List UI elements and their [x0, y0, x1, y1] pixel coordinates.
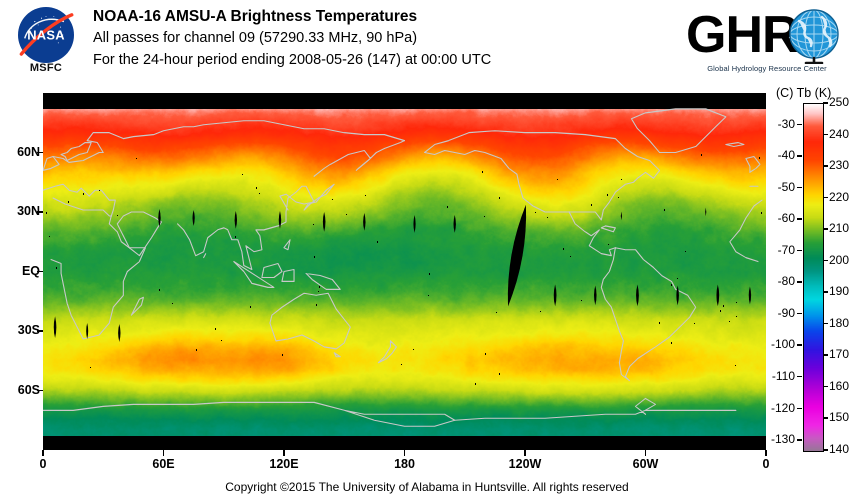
colorbar-celsius-label: -120: [761, 401, 795, 415]
xtick-mark: [163, 450, 165, 456]
colorbar-kelvin-tick: [823, 354, 828, 356]
colorbar-celsius-label: -130: [761, 432, 795, 446]
colorbar-celsius-tick: [797, 250, 802, 252]
ytick-mark: [37, 330, 43, 332]
colorbar-kelvin-label: 210: [829, 221, 854, 235]
xtick-label-0: 0: [13, 457, 73, 471]
xtick-label-120e: 120E: [254, 457, 314, 471]
xtick-mark: [404, 450, 406, 456]
colorbar-kelvin-label: 230: [829, 158, 854, 172]
colorbar-celsius-label: -60: [761, 211, 795, 225]
ytick-label-60n: 60N: [0, 145, 40, 159]
xtick-mark: [283, 450, 285, 456]
colorbar-kelvin-tick: [823, 228, 828, 230]
title-block: NOAA-16 AMSU-A Brightness Temperatures A…: [93, 6, 683, 71]
colorbar-celsius-tick: [797, 218, 802, 220]
xtick-label-0: 0: [736, 457, 796, 471]
ytick-label-30s: 30S: [0, 323, 40, 337]
colorbar-celsius-tick: [797, 439, 802, 441]
colorbar-kelvin-label: 200: [829, 253, 854, 267]
copyright-notice: Copyright ©2015 The University of Alabam…: [0, 480, 854, 494]
colorbar-celsius-label: -70: [761, 243, 795, 257]
xtick-mark: [645, 450, 647, 456]
xtick-label-180: 180: [375, 457, 435, 471]
map-canvas[interactable]: [43, 93, 766, 450]
xtick-mark: [765, 450, 767, 456]
colorbar-kelvin-label: 170: [829, 347, 854, 361]
colorbar-kelvin-tick: [823, 386, 828, 388]
colorbar-kelvin-label: 190: [829, 284, 854, 298]
svg-text:GHR: GHR: [686, 6, 799, 64]
ghrc-logo: GHR Global Hydrology Resource Center: [686, 4, 848, 78]
colorbar-kelvin-label: 150: [829, 410, 854, 424]
page-title: NOAA-16 AMSU-A Brightness Temperatures: [93, 6, 683, 27]
colorbar-kelvin-label: 180: [829, 316, 854, 330]
xtick-label-60w: 60W: [616, 457, 676, 471]
colorbar-kelvin-tick: [823, 260, 828, 262]
title-subline-channel: All passes for channel 09 (57290.33 MHz,…: [93, 27, 683, 49]
colorbar-kelvin-label: 140: [829, 442, 854, 456]
colorbar-kelvin-tick: [823, 291, 828, 293]
ytick-label-30n: 30N: [0, 204, 40, 218]
ytick-mark: [37, 211, 43, 213]
colorbar-celsius-tick: [797, 313, 802, 315]
colorbar-celsius-label: -40: [761, 148, 795, 162]
xtick-mark: [524, 450, 526, 456]
nasa-logo: NASA MSFC: [10, 5, 82, 77]
xtick-label-120w: 120W: [495, 457, 555, 471]
xtick-label-60e: 60E: [134, 457, 194, 471]
colorbar-celsius-label: -80: [761, 274, 795, 288]
xtick-mark: [42, 450, 44, 456]
colorbar[interactable]: [803, 103, 824, 452]
ghrc-subtitle: Global Hydrology Resource Center: [686, 64, 848, 73]
plot-page: NASA MSFC NOAA-16 AMSU-A Brightness Temp…: [0, 0, 854, 502]
colorbar-celsius-label: -110: [761, 369, 795, 383]
svg-text:NASA: NASA: [27, 27, 65, 42]
nasa-center-label: MSFC: [10, 62, 82, 74]
ytick-label-eq: EQ: [0, 264, 40, 278]
colorbar-celsius-tick: [797, 187, 802, 189]
ytick-label-60s: 60S: [0, 383, 40, 397]
colorbar-celsius-tick: [797, 344, 802, 346]
colorbar-kelvin-label: 220: [829, 190, 854, 204]
ytick-mark: [37, 271, 43, 273]
colorbar-kelvin-tick: [823, 323, 828, 325]
colorbar-celsius-tick: [797, 155, 802, 157]
colorbar-celsius-tick: [797, 376, 802, 378]
colorbar-kelvin-tick: [823, 165, 828, 167]
title-subline-period: For the 24-hour period ending 2008-05-26…: [93, 49, 683, 71]
colorbar-celsius-tick: [797, 124, 802, 126]
colorbar-canvas[interactable]: [804, 104, 823, 451]
colorbar-kelvin-label: 240: [829, 127, 854, 141]
colorbar-celsius-label: -90: [761, 306, 795, 320]
ytick-mark: [37, 152, 43, 154]
nasa-meatball-icon: NASA: [18, 7, 74, 63]
colorbar-celsius-label: -30: [761, 117, 795, 131]
colorbar-kelvin-tick: [823, 417, 828, 419]
colorbar-celsius-tick: [797, 408, 802, 410]
colorbar-kelvin-label: 160: [829, 379, 854, 393]
brightness-temperature-map[interactable]: [43, 93, 766, 450]
ytick-mark: [37, 390, 43, 392]
colorbar-kelvin-tick: [823, 197, 828, 199]
colorbar-kelvin-tick: [823, 134, 828, 136]
colorbar-celsius-tick: [797, 281, 802, 283]
colorbar-kelvin-label: 250: [829, 95, 854, 109]
colorbar-kelvin-tick: [823, 102, 828, 104]
colorbar-celsius-label: -50: [761, 180, 795, 194]
colorbar-celsius-label: -100: [761, 337, 795, 351]
ghrc-wordmark-icon: GHR: [686, 4, 848, 64]
colorbar-kelvin-tick: [823, 449, 828, 451]
